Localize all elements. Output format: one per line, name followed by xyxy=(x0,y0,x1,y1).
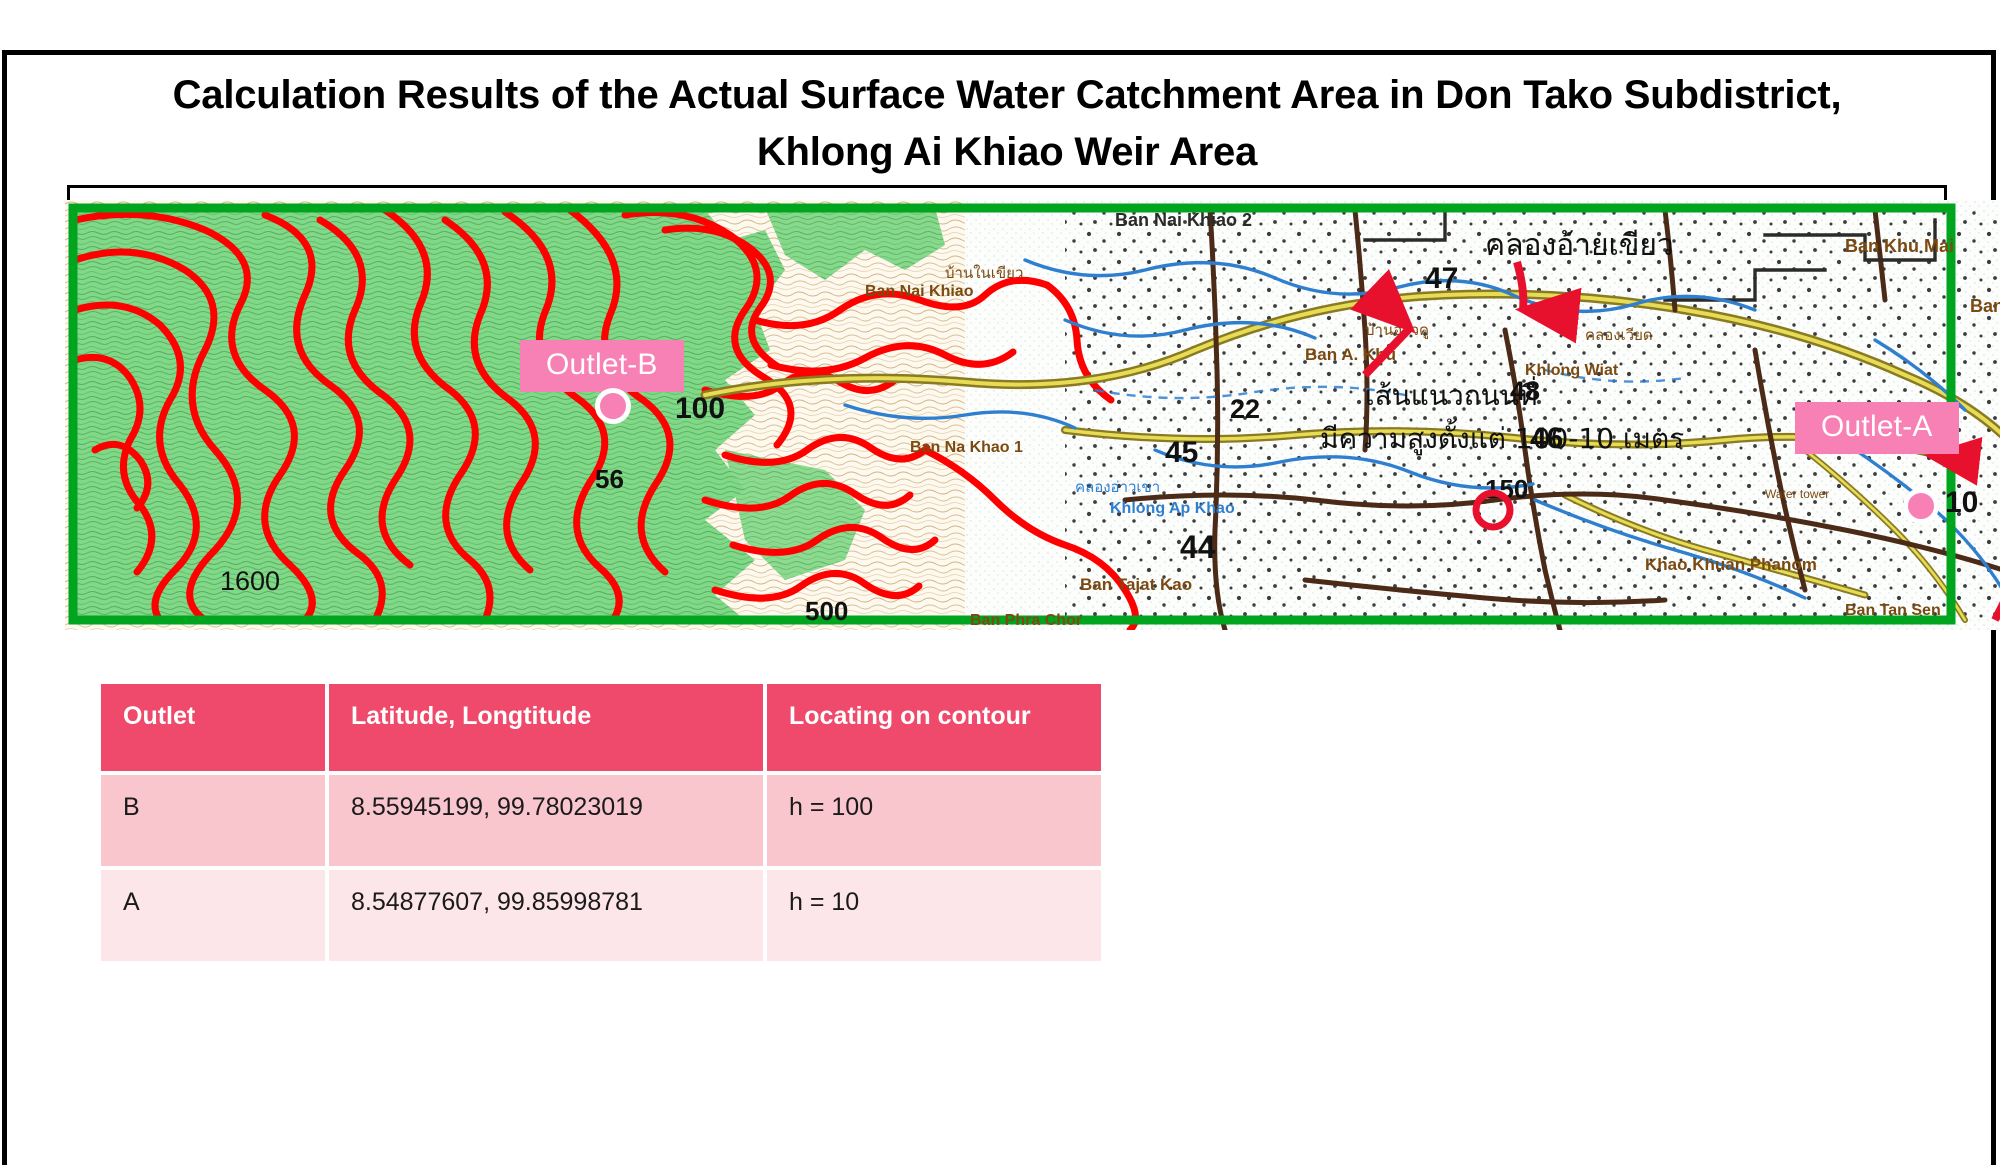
svg-text:Ban Phra Chor: Ban Phra Chor xyxy=(970,612,1082,629)
svg-text:Ban: Ban xyxy=(1970,296,2000,316)
svg-text:1600: 1600 xyxy=(220,566,280,596)
outlet-b-label: Outlet-B xyxy=(546,348,658,381)
map-image[interactable]: 1600 xyxy=(65,200,2000,630)
outlet-b-callout[interactable]: Outlet-B xyxy=(520,340,684,392)
outlet-a-marker[interactable] xyxy=(1903,488,1939,524)
table-row: B 8.55945199, 99.78023019 h = 100 xyxy=(101,775,1101,866)
svg-text:บ้านในเขียว: บ้านในเขียว xyxy=(945,264,1023,282)
svg-text:มีความสูงตั้งแต่ 100-10 เมตร: มีความสูงตั้งแต่ 100-10 เมตร xyxy=(1320,418,1684,456)
cell-outlet: B xyxy=(101,775,325,866)
cell-coords: 8.55945199, 99.78023019 xyxy=(329,775,763,866)
svg-text:10: 10 xyxy=(1945,486,1978,519)
svg-text:Ban Tajat Kao: Ban Tajat Kao xyxy=(1080,575,1192,594)
svg-text:คลองเวียด: คลองเวียด xyxy=(1585,326,1653,344)
map-frame: 1600 xyxy=(67,185,1947,617)
svg-text:44: 44 xyxy=(1180,529,1216,565)
outlet-b-marker[interactable] xyxy=(595,388,631,424)
table-row: A 8.54877607, 99.85998781 h = 10 xyxy=(101,870,1101,961)
outlet-a-label: Outlet-A xyxy=(1821,410,1933,443)
svg-text:คลองอ่าวเขา: คลองอ่าวเขา xyxy=(1075,478,1160,496)
table-header-row: Outlet Latitude, Longtitude Locating on … xyxy=(101,684,1101,771)
svg-text:47: 47 xyxy=(1425,262,1458,295)
slide-canvas: Calculation Results of the Actual Surfac… xyxy=(2,50,1996,1165)
cell-contour: h = 100 xyxy=(767,775,1101,866)
svg-text:100: 100 xyxy=(675,392,725,425)
svg-text:500: 500 xyxy=(805,596,848,626)
cell-coords: 8.54877607, 99.85998781 xyxy=(329,870,763,961)
topographic-map-svg: 1600 xyxy=(65,200,2000,630)
svg-text:Khao Khuan Phanom: Khao Khuan Phanom xyxy=(1645,555,1817,574)
cell-contour: h = 10 xyxy=(767,870,1101,961)
svg-text:Ban Nai Khiao: Ban Nai Khiao xyxy=(865,283,974,300)
svg-text:คลองอ้ายเขียว: คลองอ้ายเขียว xyxy=(1485,228,1674,263)
svg-text:Ban Khu Mai: Ban Khu Mai xyxy=(1845,236,1954,256)
results-table: Outlet Latitude, Longtitude Locating on … xyxy=(97,680,1105,965)
svg-text:45: 45 xyxy=(1165,436,1198,469)
svg-text:56: 56 xyxy=(595,464,624,494)
svg-text:Ban Na Khao 1: Ban Na Khao 1 xyxy=(910,439,1023,456)
svg-text:Ban Nai Khiao 2: Ban Nai Khiao 2 xyxy=(1115,210,1252,230)
svg-text:Water tower: Water tower xyxy=(1765,487,1829,501)
cell-outlet: A xyxy=(101,870,325,961)
col-header-contour: Locating on contour xyxy=(767,684,1101,771)
outlet-a-callout[interactable]: Outlet-A xyxy=(1795,402,1959,454)
svg-text:Ban Tan Sen: Ban Tan Sen xyxy=(1845,602,1941,619)
svg-text:22: 22 xyxy=(1230,394,1260,424)
col-header-latlon: Latitude, Longtitude xyxy=(329,684,763,771)
page-title: Calculation Results of the Actual Surfac… xyxy=(127,67,1887,181)
col-header-outlet: Outlet xyxy=(101,684,325,771)
svg-text:เส้นแนวถนนที่: เส้นแนวถนนที่ xyxy=(1365,376,1537,412)
svg-text:Khlong Ap Khao: Khlong Ap Khao xyxy=(1110,500,1235,517)
